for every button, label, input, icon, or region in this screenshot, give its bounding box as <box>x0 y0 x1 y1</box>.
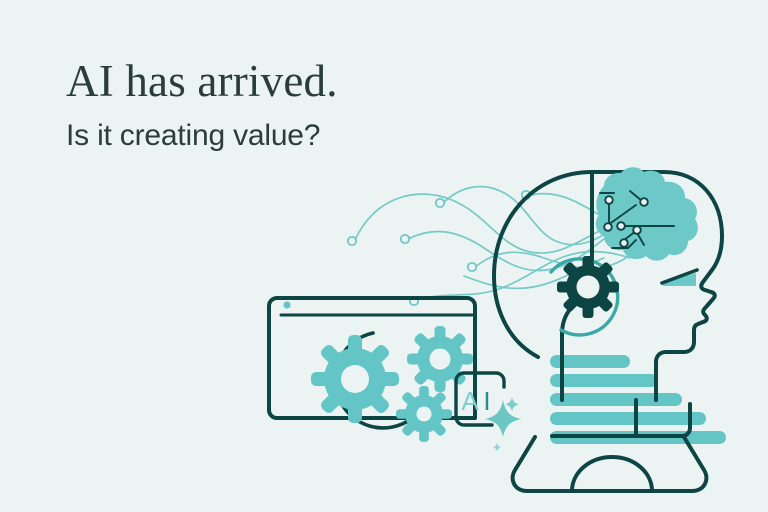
neural-endpoint-dot-1 <box>348 237 356 245</box>
browser-window-dot <box>283 301 290 308</box>
sparkle-icon-tiny <box>493 443 502 452</box>
brain-node-6 <box>620 239 628 247</box>
gear-medium-hole <box>430 349 451 370</box>
brain-node-5 <box>633 226 641 234</box>
gear-small <box>396 386 452 442</box>
gear-large-hole <box>341 365 369 393</box>
head-gear <box>557 256 619 318</box>
brain-shape <box>596 167 698 260</box>
monitor-stand-arch <box>572 457 652 491</box>
bar-chart-bar-4 <box>550 412 706 425</box>
brain-node-3 <box>617 222 625 230</box>
page-title: AI has arrived. <box>66 58 486 105</box>
page-subtitle: Is it creating value? <box>66 119 486 152</box>
gear-large <box>311 335 399 423</box>
neural-endpoint-dot-3 <box>436 199 444 207</box>
bar-chart-bar-3 <box>550 393 682 406</box>
ai-badge-label-i: I <box>483 386 490 416</box>
brain-node-1 <box>640 198 648 206</box>
ai-badge-label-a: A <box>461 386 479 416</box>
neural-endpoint-dot-4 <box>468 263 476 271</box>
eye-wedge <box>662 270 697 286</box>
hero-banner: A I <box>0 0 768 512</box>
bar-chart-bar-2 <box>550 374 658 387</box>
gear-small-hole <box>417 407 432 422</box>
gear-medium <box>407 326 473 392</box>
brain-fill <box>596 167 698 260</box>
headline-block: AI has arrived. Is it creating value? <box>66 58 486 152</box>
head-gear-hole <box>577 276 600 299</box>
sparkle-icon-small <box>505 397 519 411</box>
monitor-stand-base <box>513 437 707 491</box>
brain-node-2 <box>604 223 612 231</box>
brain-node-4 <box>605 196 613 204</box>
neural-endpoint-dot-2 <box>401 235 409 243</box>
gear-cluster <box>311 326 473 442</box>
head-gear-group <box>551 256 619 335</box>
